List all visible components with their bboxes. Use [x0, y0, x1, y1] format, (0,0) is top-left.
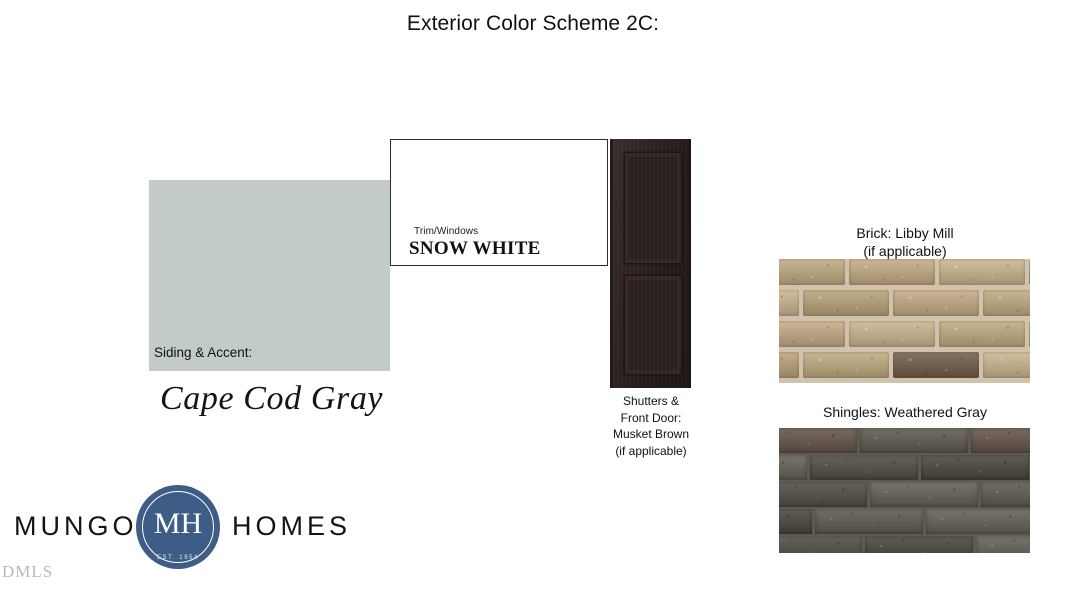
shutter-caption-line-4: (if applicable) [596, 443, 706, 460]
brick-unit [779, 290, 799, 316]
shingle-tab [971, 428, 1030, 453]
shingle-row [779, 536, 1030, 553]
siding-color-swatch [149, 180, 390, 371]
brick-unit-dark [893, 352, 979, 378]
shingle-tab [779, 536, 862, 553]
brick-unit [849, 259, 935, 285]
brick-caption: Brick: Libby Mill (if applicable) [779, 224, 1031, 260]
shingle-tab [779, 509, 812, 534]
shingles-texture-swatch [779, 428, 1030, 553]
brick-unit [893, 290, 979, 316]
shingle-tab [976, 536, 1030, 553]
mungo-homes-logo: MUNGO MH EST. 1954 HOMES [14, 495, 344, 573]
shutter-caption: Shutters & Front Door: Musket Brown (if … [596, 393, 706, 459]
brick-row [779, 290, 1030, 316]
brick-unit [779, 321, 845, 347]
shingle-tab [926, 509, 1030, 534]
shutter-caption-line-3: Musket Brown [596, 426, 706, 443]
shingle-tab [921, 455, 1029, 480]
trim-color-swatch: Trim/Windows SNOW WHITE [390, 139, 608, 266]
shutter-color-swatch [610, 139, 691, 388]
brick-caption-line-2: (if applicable) [779, 242, 1031, 260]
shingle-tab [865, 536, 973, 553]
brick-unit [939, 259, 1025, 285]
shingles-caption: Shingles: Weathered Gray [779, 404, 1031, 420]
shingle-tab [779, 455, 807, 480]
shingle-tab [810, 455, 918, 480]
brick-unit [1029, 321, 1030, 347]
brick-unit [849, 321, 935, 347]
logo-monogram-text: MH [136, 507, 220, 541]
brick-unit [803, 290, 889, 316]
brick-unit [1029, 259, 1030, 285]
shutter-panel-bottom [624, 275, 682, 375]
brick-unit [983, 352, 1030, 378]
shingle-tab [870, 482, 978, 507]
logo-established-text: EST. 1954 [136, 555, 220, 561]
shingle-tab [779, 482, 867, 507]
logo-monogram-circle: MH EST. 1954 [136, 485, 220, 569]
shingle-row [779, 455, 1030, 481]
siding-color-name: Cape Cod Gray [160, 380, 400, 418]
brick-row [779, 321, 1030, 347]
shingle-tab [779, 428, 857, 453]
watermark: DMLS [2, 562, 53, 582]
shutter-caption-line-1: Shutters & [596, 393, 706, 410]
logo-word-homes: HOMES [232, 511, 351, 542]
siding-label: Siding & Accent: [154, 345, 252, 360]
brick-texture-swatch [779, 259, 1030, 383]
shutter-caption-line-2: Front Door: [596, 410, 706, 427]
trim-color-name: SNOW WHITE [409, 238, 541, 260]
brick-row [779, 259, 1030, 285]
brick-unit [983, 290, 1030, 316]
brick-unit [779, 259, 845, 285]
shingle-tab [815, 509, 923, 534]
shingle-tab [981, 482, 1030, 507]
shingle-tab [860, 428, 968, 453]
brick-row [779, 352, 1030, 378]
brick-caption-line-1: Brick: Libby Mill [779, 224, 1031, 242]
page-title: Exterior Color Scheme 2C: [0, 12, 1066, 36]
shutter-panel-top [624, 152, 682, 264]
trim-label: Trim/Windows [414, 226, 478, 237]
shingle-row [779, 482, 1030, 508]
brick-unit [939, 321, 1025, 347]
brick-unit [779, 352, 799, 378]
shingle-row [779, 428, 1030, 454]
shingle-row [779, 509, 1030, 535]
brick-unit [803, 352, 889, 378]
logo-word-mungo: MUNGO [14, 511, 138, 542]
